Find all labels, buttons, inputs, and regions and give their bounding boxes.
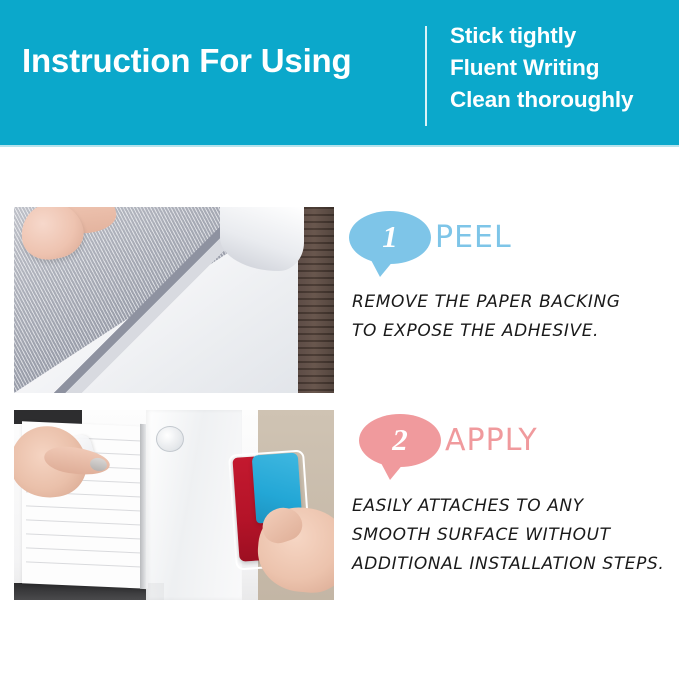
step-2-description-line-1: EASILY ATTACHES TO ANY [352, 492, 664, 521]
header-divider [425, 26, 427, 126]
step-1-description-line-2: TO EXPOSE THE ADHESIVE. [352, 317, 621, 346]
header-banner: Instruction For Using Stick tightly Flue… [0, 0, 679, 145]
step-1-badge: 1 PEEL [349, 211, 431, 264]
step-2-badge: 2 APPLY [359, 414, 441, 467]
step-2-number: 2 [392, 424, 408, 455]
step-2-photo [14, 410, 334, 600]
step-2-description-line-3: ADDITIONAL INSTALLATION STEPS. [352, 550, 664, 579]
step-1-label: PEEL [435, 220, 512, 255]
step-1-photo [14, 207, 334, 393]
page-title: Instruction For Using [22, 44, 412, 79]
benefit-line-1: Stick tightly [450, 20, 675, 52]
step-1-description-line-1: REMOVE THE PAPER BACKING [352, 288, 621, 317]
air-bubble [156, 426, 184, 452]
step-1-speech-bubble-icon: 1 [349, 211, 431, 264]
step-2-speech-bubble-icon: 2 [359, 414, 441, 467]
step-2-description: EASILY ATTACHES TO ANY SMOOTH SURFACE WI… [352, 492, 664, 580]
benefit-line-3: Clean thoroughly [450, 84, 675, 116]
step-1-description: REMOVE THE PAPER BACKING TO EXPOSE THE A… [352, 288, 621, 346]
step-2-label: APPLY [445, 423, 538, 458]
benefit-line-2: Fluent Writing [450, 52, 675, 84]
header-bottom-rule [0, 145, 679, 147]
step-1-number: 1 [382, 221, 398, 252]
header-benefits-list: Stick tightly Fluent Writing Clean thoro… [450, 20, 675, 116]
step-2-description-line-2: SMOOTH SURFACE WITHOUT [352, 521, 664, 550]
